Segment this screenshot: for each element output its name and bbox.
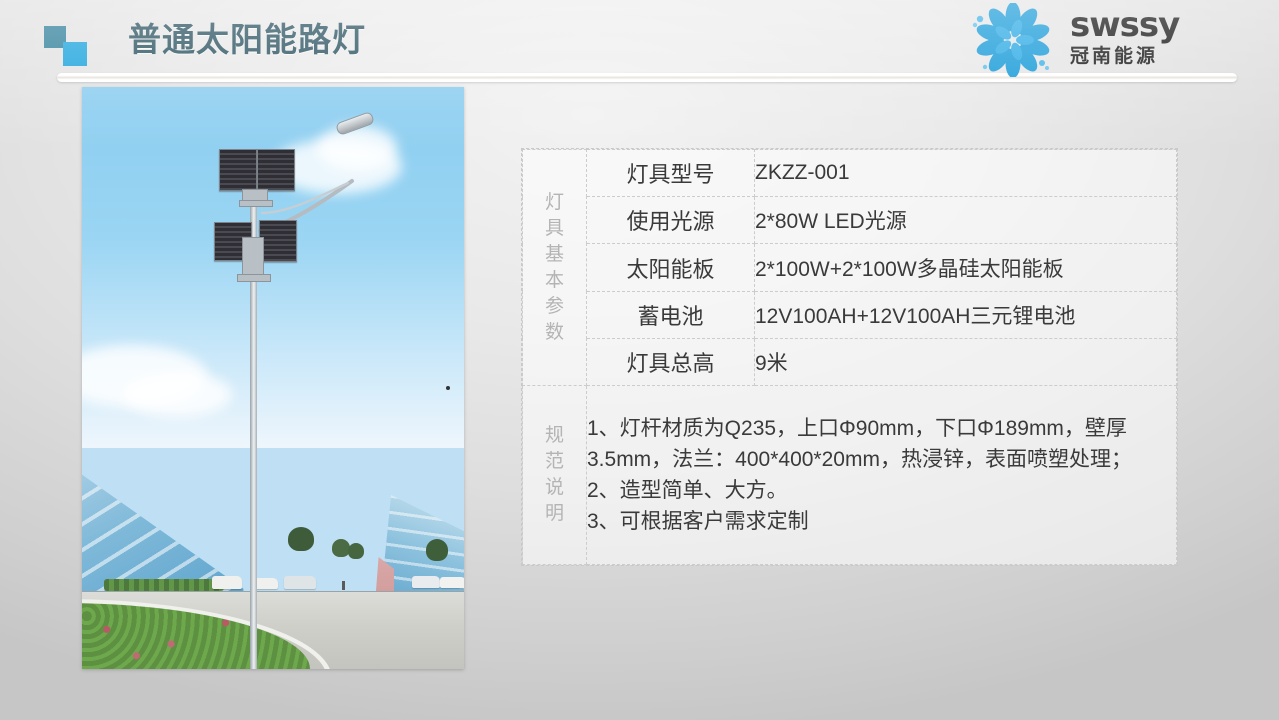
- spec-value-solar-panel: 2*100W+2*100W多晶硅太阳能板: [755, 244, 1177, 291]
- spec-label-total-height: 灯具总高: [587, 338, 755, 385]
- slide-root: 普通太阳能路灯: [0, 0, 1279, 720]
- table-row: 灯具总高 9米: [523, 338, 1177, 385]
- spec-label-light-source: 使用光源: [587, 197, 755, 244]
- company-logo: swssy 冠南能源: [958, 3, 1213, 79]
- spec-label-battery: 蓄电池: [587, 291, 755, 338]
- spec-value-total-height: 9米: [755, 338, 1177, 385]
- photo-car: [212, 576, 242, 589]
- spec-value-light-source: 2*80W LED光源: [755, 197, 1177, 244]
- spec-notes-cell: 1、灯杆材质为Q235，上口Φ90mm，下口Φ189mm，壁厚3.5mm，法兰：…: [587, 386, 1177, 565]
- photo-tree: [426, 539, 448, 561]
- photo-pedestrian: [342, 581, 345, 590]
- spec-group-note-label: 规范说明: [523, 386, 587, 565]
- product-photo: [82, 87, 464, 669]
- photo-solar-panel: [219, 149, 257, 191]
- page-title: 普通太阳能路灯: [128, 18, 366, 62]
- photo-cars: [212, 574, 362, 590]
- table-row: 灯具基本参数 灯具型号 ZKZZ-001: [523, 150, 1177, 197]
- spec-note-line-2: 2、造型简单、大方。: [587, 475, 1176, 506]
- photo-car: [284, 576, 316, 589]
- photo-panel-bracket: [239, 200, 273, 207]
- spec-value-model: ZKZZ-001: [755, 150, 1177, 197]
- spec-value-battery: 12V100AH+12V100AH三元锂电池: [755, 291, 1177, 338]
- spec-note-line-3: 3、可根据客户需求定制: [587, 506, 1176, 537]
- spec-group-basic-label: 灯具基本参数: [523, 150, 587, 386]
- decor-square-light-icon: [63, 42, 87, 66]
- spec-table-wrapper: 灯具基本参数 灯具型号 ZKZZ-001 使用光源 2*80W LED光源 太阳…: [521, 148, 1178, 566]
- spec-table: 灯具基本参数 灯具型号 ZKZZ-001 使用光源 2*80W LED光源 太阳…: [522, 149, 1177, 565]
- photo-panel-bracket: [237, 274, 271, 282]
- spec-label-model: 灯具型号: [587, 150, 755, 197]
- spec-note-line-1: 1、灯杆材质为Q235，上口Φ90mm，下口Φ189mm，壁厚3.5mm，法兰：…: [587, 413, 1176, 475]
- spec-group-basic-text: 灯具基本参数: [523, 190, 586, 346]
- photo-solar-panel: [257, 149, 295, 191]
- swssy-flower-mark-icon: [958, 3, 1068, 77]
- photo-cloud: [317, 125, 397, 171]
- table-row: 蓄电池 12V100AH+12V100AH三元锂电池: [523, 291, 1177, 338]
- photo-hedge: [104, 579, 224, 591]
- photo-tree: [288, 527, 314, 551]
- logo-subtitle: 冠南能源: [1070, 44, 1215, 70]
- table-row-notes: 规范说明 1、灯杆材质为Q235，上口Φ90mm，下口Φ189mm，壁厚3.5m…: [523, 386, 1177, 565]
- photo-car: [412, 576, 440, 588]
- table-row: 太阳能板 2*100W+2*100W多晶硅太阳能板: [523, 244, 1177, 291]
- photo-solar-panel: [259, 220, 297, 262]
- logo-wordmark: swssy: [1070, 7, 1215, 43]
- photo-tree: [348, 543, 364, 559]
- photo-dot-artifact: [446, 386, 450, 390]
- photo-car: [440, 577, 464, 588]
- spec-group-note-text: 规范说明: [523, 423, 586, 527]
- photo-panel-bracket: [242, 237, 264, 277]
- logo-text-block: swssy 冠南能源: [1070, 7, 1215, 70]
- table-row: 使用光源 2*80W LED光源: [523, 197, 1177, 244]
- photo-cloud: [122, 372, 232, 417]
- spec-label-solar-panel: 太阳能板: [587, 244, 755, 291]
